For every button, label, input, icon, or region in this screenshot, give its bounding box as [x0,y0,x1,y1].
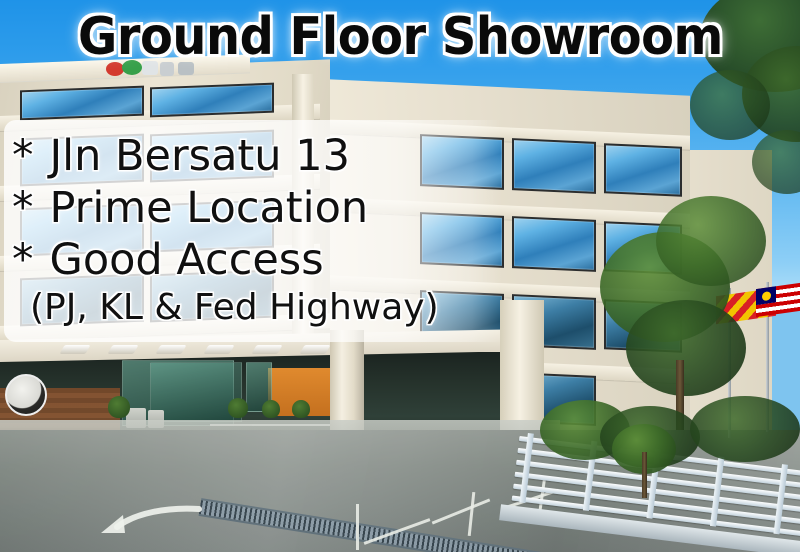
driveway-arrow-marking [95,505,205,539]
flag-malaysia [756,283,800,317]
cafe-logo-sign [5,374,47,416]
shrub [228,398,248,418]
canopy-fin [59,345,90,354]
canopy-fin [155,345,186,354]
canopy-fin [203,345,234,354]
headline-banner: Ground Floor Showroom [0,6,800,68]
features-subnote: (PJ, KL & Fed Highway) [4,286,502,328]
window [604,143,682,197]
window [20,86,144,121]
features-list: *Jln Bersatu 13 *Prime Location *Good Ac… [4,124,502,286]
shrub-bank [690,396,800,462]
bullet-star-icon: * [12,131,34,181]
window [150,83,274,118]
list-item: *Prime Location [12,182,502,234]
page-title: Ground Floor Showroom [78,11,723,63]
bullet-star-icon: * [12,235,34,285]
tree-canopy [656,196,766,286]
feature-text: Good Access [50,235,324,285]
feature-text: Prime Location [50,183,369,233]
window [512,138,596,194]
tree-trunk [642,452,647,498]
list-item: *Jln Bersatu 13 [12,130,502,182]
tree-canopy [626,300,746,396]
window [512,216,596,272]
shrub [108,396,130,418]
listing-image: *Jln Bersatu 13 *Prime Location *Good Ac… [0,0,800,552]
canopy-fin [251,345,282,354]
tree-canopy [690,70,770,140]
parking-bay-line [356,504,359,550]
feature-text: Jln Bersatu 13 [50,131,350,181]
shrub [292,400,310,418]
bullet-star-icon: * [12,183,34,233]
canopy-fin [107,345,138,354]
list-item: *Good Access [12,234,502,286]
canopy-fin [299,345,330,354]
shrub [262,400,280,418]
features-panel: *Jln Bersatu 13 *Prime Location *Good Ac… [4,120,502,342]
